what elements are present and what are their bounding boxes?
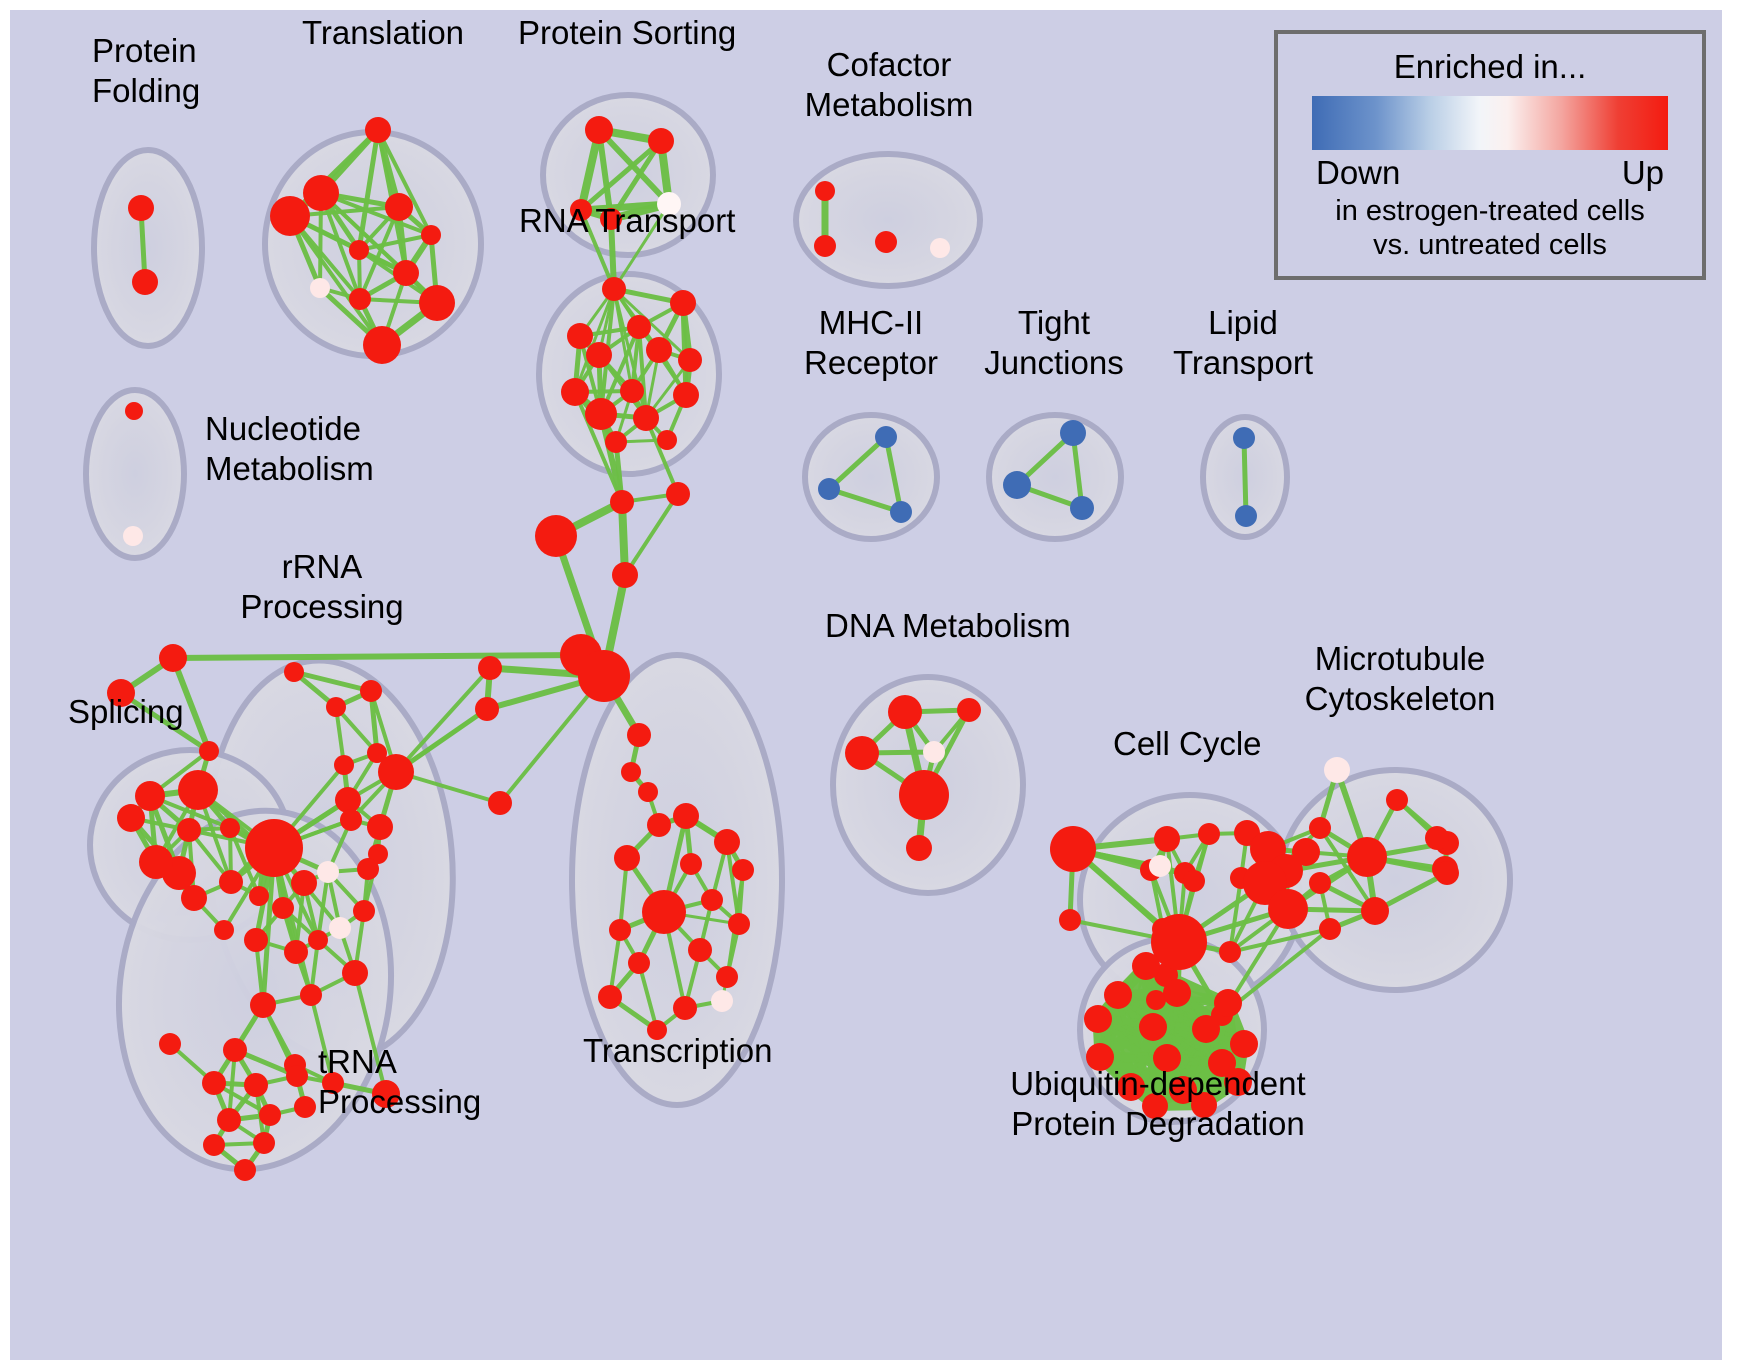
network-node[interactable] xyxy=(1003,471,1031,499)
network-node[interactable] xyxy=(139,845,173,879)
network-node[interactable] xyxy=(1319,918,1341,940)
network-node[interactable] xyxy=(598,985,622,1009)
network-node[interactable] xyxy=(875,426,897,448)
legend-low-label: Down xyxy=(1316,154,1400,192)
network-node[interactable] xyxy=(609,919,631,941)
network-node[interactable] xyxy=(181,885,207,911)
network-node[interactable] xyxy=(1154,826,1180,852)
cluster-label-rrna_processing: rRNAProcessing xyxy=(240,548,403,625)
network-node[interactable] xyxy=(1149,855,1171,877)
network-node[interactable] xyxy=(178,770,218,810)
network-node[interactable] xyxy=(621,762,641,782)
network-node[interactable] xyxy=(1132,952,1160,980)
network-node[interactable] xyxy=(259,1104,281,1126)
network-node[interactable] xyxy=(815,181,835,201)
network-node[interactable] xyxy=(688,938,712,962)
network-node[interactable] xyxy=(419,285,455,321)
network-node[interactable] xyxy=(378,754,414,790)
cluster-label-protein_folding: ProteinFolding xyxy=(92,32,200,109)
network-node[interactable] xyxy=(214,920,234,940)
network-node[interactable] xyxy=(220,818,240,838)
network-node[interactable] xyxy=(1163,979,1191,1007)
legend-high-label: Up xyxy=(1622,154,1664,192)
network-node[interactable] xyxy=(627,315,651,339)
cluster-ellipse-protein_folding xyxy=(94,150,202,346)
network-node[interactable] xyxy=(614,845,640,871)
network-node[interactable] xyxy=(294,1096,316,1118)
network-node[interactable] xyxy=(647,813,671,837)
network-node[interactable] xyxy=(488,791,512,815)
network-node[interactable] xyxy=(612,562,638,588)
network-node[interactable] xyxy=(670,290,696,316)
network-node[interactable] xyxy=(1084,1005,1112,1033)
network-node[interactable] xyxy=(1151,914,1207,970)
network-node[interactable] xyxy=(284,662,304,682)
network-node[interactable] xyxy=(1192,1015,1220,1043)
network-node[interactable] xyxy=(335,787,361,813)
network-node[interactable] xyxy=(199,741,219,761)
network-node[interactable] xyxy=(1230,1030,1258,1058)
cluster-label-cell_cycle: Cell Cycle xyxy=(1113,725,1262,762)
network-node[interactable] xyxy=(1070,496,1094,520)
network-node[interactable] xyxy=(385,193,413,221)
network-edge xyxy=(1244,438,1246,516)
network-node[interactable] xyxy=(728,913,750,935)
network-node[interactable] xyxy=(125,402,143,420)
network-node[interactable] xyxy=(159,1033,181,1055)
cluster-label-tight_junctions: TightJunctions xyxy=(984,304,1123,381)
network-node[interactable] xyxy=(1233,427,1255,449)
network-node[interactable] xyxy=(1292,838,1320,866)
network-node[interactable] xyxy=(602,277,626,301)
network-node[interactable] xyxy=(716,966,738,988)
cluster-label-rna_transport: RNA Transport xyxy=(519,202,735,239)
cluster-label-translation: Translation xyxy=(302,14,464,51)
legend-endpoint-labels: Down Up xyxy=(1304,154,1676,192)
network-node[interactable] xyxy=(329,917,351,939)
network-node[interactable] xyxy=(365,117,391,143)
network-node[interactable] xyxy=(223,1038,247,1062)
network-node[interactable] xyxy=(711,990,733,1012)
network-node[interactable] xyxy=(888,695,922,729)
network-node[interactable] xyxy=(1425,826,1449,850)
network-node[interactable] xyxy=(899,770,949,820)
network-node[interactable] xyxy=(1347,837,1387,877)
network-node[interactable] xyxy=(1268,889,1308,929)
network-node[interactable] xyxy=(732,859,754,881)
cluster-label-mhc_ii_receptor: MHC-IIReceptor xyxy=(804,304,938,381)
cluster-label-cofactor_metabolism: CofactorMetabolism xyxy=(805,46,974,123)
network-node[interactable] xyxy=(349,288,371,310)
network-node[interactable] xyxy=(291,870,317,896)
network-node[interactable] xyxy=(605,431,627,453)
network-node[interactable] xyxy=(367,814,393,840)
network-node[interactable] xyxy=(326,697,346,717)
network-node[interactable] xyxy=(1104,981,1132,1009)
cluster-ellipse-mhc_ii_receptor xyxy=(805,415,937,539)
cluster-label-nucleotide_metabolism: NucleotideMetabolism xyxy=(205,410,374,487)
network-node[interactable] xyxy=(642,890,686,934)
network-node[interactable] xyxy=(360,680,382,702)
network-node[interactable] xyxy=(1183,870,1205,892)
network-node[interactable] xyxy=(923,741,945,763)
network-node[interactable] xyxy=(244,1073,268,1097)
network-node[interactable] xyxy=(1386,789,1408,811)
legend-caption-line2: vs. untreated cells xyxy=(1304,228,1676,262)
network-node[interactable] xyxy=(1214,989,1242,1017)
network-node[interactable] xyxy=(818,478,840,500)
network-node[interactable] xyxy=(393,260,419,286)
legend-caption-line1: in estrogen-treated cells xyxy=(1304,194,1676,228)
legend-color-gradient xyxy=(1312,96,1668,150)
network-node[interactable] xyxy=(648,128,674,154)
network-node[interactable] xyxy=(310,278,330,298)
network-node[interactable] xyxy=(930,238,950,258)
network-node[interactable] xyxy=(1198,823,1220,845)
network-node[interactable] xyxy=(303,175,339,211)
network-node[interactable] xyxy=(578,650,630,702)
network-node[interactable] xyxy=(475,697,499,721)
network-node[interactable] xyxy=(680,853,702,875)
cluster-label-protein_sorting: Protein Sorting xyxy=(518,14,736,51)
network-node[interactable] xyxy=(1309,817,1331,839)
network-node[interactable] xyxy=(117,804,145,832)
cluster-label-lipid_transport: LipidTransport xyxy=(1173,304,1313,381)
network-node[interactable] xyxy=(875,231,897,253)
cluster-label-dna_metabolism: DNA Metabolism xyxy=(825,607,1071,644)
network-node[interactable] xyxy=(585,398,617,430)
network-node[interactable] xyxy=(1235,505,1257,527)
network-node[interactable] xyxy=(535,515,577,557)
network-node[interactable] xyxy=(340,809,362,831)
network-node[interactable] xyxy=(253,1132,275,1154)
network-node[interactable] xyxy=(1309,872,1331,894)
cluster-label-microtubule_cytoskeleton: MicrotubuleCytoskeleton xyxy=(1305,640,1496,717)
network-node[interactable] xyxy=(666,482,690,506)
network-node[interactable] xyxy=(177,818,201,842)
network-node[interactable] xyxy=(814,235,836,257)
network-node[interactable] xyxy=(586,342,612,368)
network-node[interactable] xyxy=(308,930,328,950)
network-node[interactable] xyxy=(1059,909,1081,931)
network-node[interactable] xyxy=(585,116,613,144)
network-node[interactable] xyxy=(132,269,158,295)
network-node[interactable] xyxy=(202,1071,226,1095)
network-node[interactable] xyxy=(270,196,310,236)
network-node[interactable] xyxy=(284,940,308,964)
network-node[interactable] xyxy=(610,490,634,514)
network-node[interactable] xyxy=(1139,1013,1167,1041)
network-node[interactable] xyxy=(245,819,303,877)
network-node[interactable] xyxy=(159,644,187,672)
network-node[interactable] xyxy=(957,698,981,722)
network-node[interactable] xyxy=(890,501,912,523)
network-node[interactable] xyxy=(203,1134,225,1156)
network-node[interactable] xyxy=(357,858,379,880)
network-node[interactable] xyxy=(1060,420,1086,446)
cluster-label-transcription: Transcription xyxy=(583,1032,773,1069)
network-node[interactable] xyxy=(1219,941,1241,963)
network-node[interactable] xyxy=(673,382,699,408)
network-node[interactable] xyxy=(135,781,165,811)
network-node[interactable] xyxy=(363,326,401,364)
network-node[interactable] xyxy=(317,861,339,883)
network-node[interactable] xyxy=(673,803,699,829)
legend-title: Enriched in... xyxy=(1304,48,1676,86)
network-node[interactable] xyxy=(673,996,697,1020)
network-node[interactable] xyxy=(478,656,502,680)
network-node[interactable] xyxy=(349,240,369,260)
network-node[interactable] xyxy=(628,952,650,974)
network-edge xyxy=(173,655,581,658)
network-node[interactable] xyxy=(1435,861,1459,885)
network-node[interactable] xyxy=(249,886,269,906)
network-node[interactable] xyxy=(567,323,593,349)
network-node[interactable] xyxy=(123,526,143,546)
network-node[interactable] xyxy=(638,782,658,802)
network-node[interactable] xyxy=(1361,897,1389,925)
network-node[interactable] xyxy=(219,870,243,894)
network-node[interactable] xyxy=(1050,826,1096,872)
network-node[interactable] xyxy=(334,755,354,775)
network-node[interactable] xyxy=(657,430,677,450)
network-node[interactable] xyxy=(234,1159,256,1181)
network-node[interactable] xyxy=(1324,757,1350,783)
network-node[interactable] xyxy=(244,928,268,952)
network-node[interactable] xyxy=(217,1108,241,1132)
network-node[interactable] xyxy=(342,960,368,986)
network-node[interactable] xyxy=(906,835,932,861)
network-node[interactable] xyxy=(845,736,879,770)
cluster-label-splicing: Splicing xyxy=(68,693,184,730)
network-node[interactable] xyxy=(620,379,644,403)
network-node[interactable] xyxy=(678,348,702,372)
network-node[interactable] xyxy=(272,897,294,919)
network-node[interactable] xyxy=(128,195,154,221)
network-node[interactable] xyxy=(633,405,659,431)
network-node[interactable] xyxy=(646,337,672,363)
legend-box: Enriched in... Down Up in estrogen-treat… xyxy=(1274,30,1706,280)
figure-canvas: ProteinFoldingTranslationProtein Sorting… xyxy=(0,0,1750,1360)
network-node[interactable] xyxy=(561,378,589,406)
network-node[interactable] xyxy=(286,1065,308,1087)
network-node[interactable] xyxy=(250,992,276,1018)
network-node[interactable] xyxy=(701,889,723,911)
network-node[interactable] xyxy=(714,829,740,855)
network-node[interactable] xyxy=(353,900,375,922)
network-node[interactable] xyxy=(421,225,441,245)
network-node[interactable] xyxy=(627,723,651,747)
network-node[interactable] xyxy=(300,984,322,1006)
